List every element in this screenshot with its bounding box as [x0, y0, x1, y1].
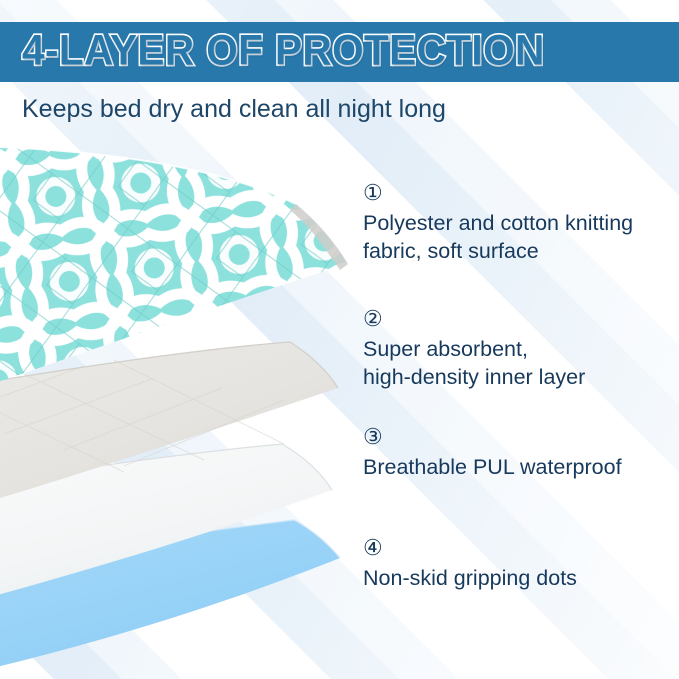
- feature-number-2-icon: ②: [363, 308, 585, 330]
- feature-text-3: Breathable PUL waterproof: [363, 453, 622, 481]
- feature-item-4: ④ Non-skid gripping dots: [363, 537, 577, 592]
- page-subtitle: Keeps bed dry and clean all night long: [22, 95, 446, 124]
- page-title: 4-LAYER OF PROTECTION: [22, 30, 545, 73]
- feature-text-1: Polyester and cotton knitting fabric, so…: [363, 209, 633, 266]
- infographic-canvas: 4-LAYER OF PROTECTION Keeps bed dry and …: [0, 0, 679, 679]
- feature-item-2: ② Super absorbent, high-density inner la…: [363, 308, 585, 392]
- layer-illustration: [0, 128, 384, 668]
- feature-item-1: ① Polyester and cotton knitting fabric, …: [363, 182, 633, 266]
- feature-text-4: Non-skid gripping dots: [363, 564, 577, 592]
- feature-item-3: ③ Breathable PUL waterproof: [363, 426, 622, 481]
- header-banner: 4-LAYER OF PROTECTION: [0, 22, 679, 82]
- feature-number-1-icon: ①: [363, 182, 633, 204]
- feature-text-2: Super absorbent, high-density inner laye…: [363, 335, 585, 392]
- feature-number-3-icon: ③: [363, 426, 622, 448]
- feature-number-4-icon: ④: [363, 537, 577, 559]
